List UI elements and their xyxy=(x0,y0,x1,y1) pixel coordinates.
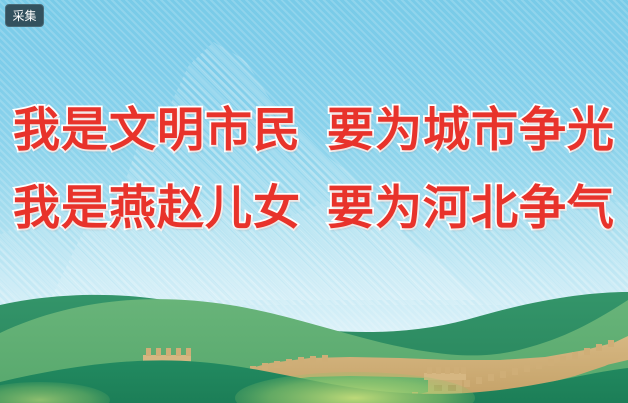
slogan-line-2: 我是燕赵儿女要为河北争气 xyxy=(0,170,628,248)
slogan-line-2-right: 要为河北争气 xyxy=(327,181,615,236)
slogan-banner-screenshot: 我是文明市民要为城市争光 我是燕赵儿女要为河北争气 采集 xyxy=(0,0,628,403)
slogan-line-1-left: 我是文明市民 xyxy=(13,103,301,158)
capture-button[interactable]: 采集 xyxy=(5,4,44,27)
slogan-line-1: 我是文明市民要为城市争光 xyxy=(0,92,628,170)
slogan-line-2-left: 我是燕赵儿女 xyxy=(13,181,301,236)
slogan-line-1-right: 要为城市争光 xyxy=(327,103,615,158)
slogan-text-block: 我是文明市民要为城市争光 我是燕赵儿女要为河北争气 xyxy=(0,92,628,248)
